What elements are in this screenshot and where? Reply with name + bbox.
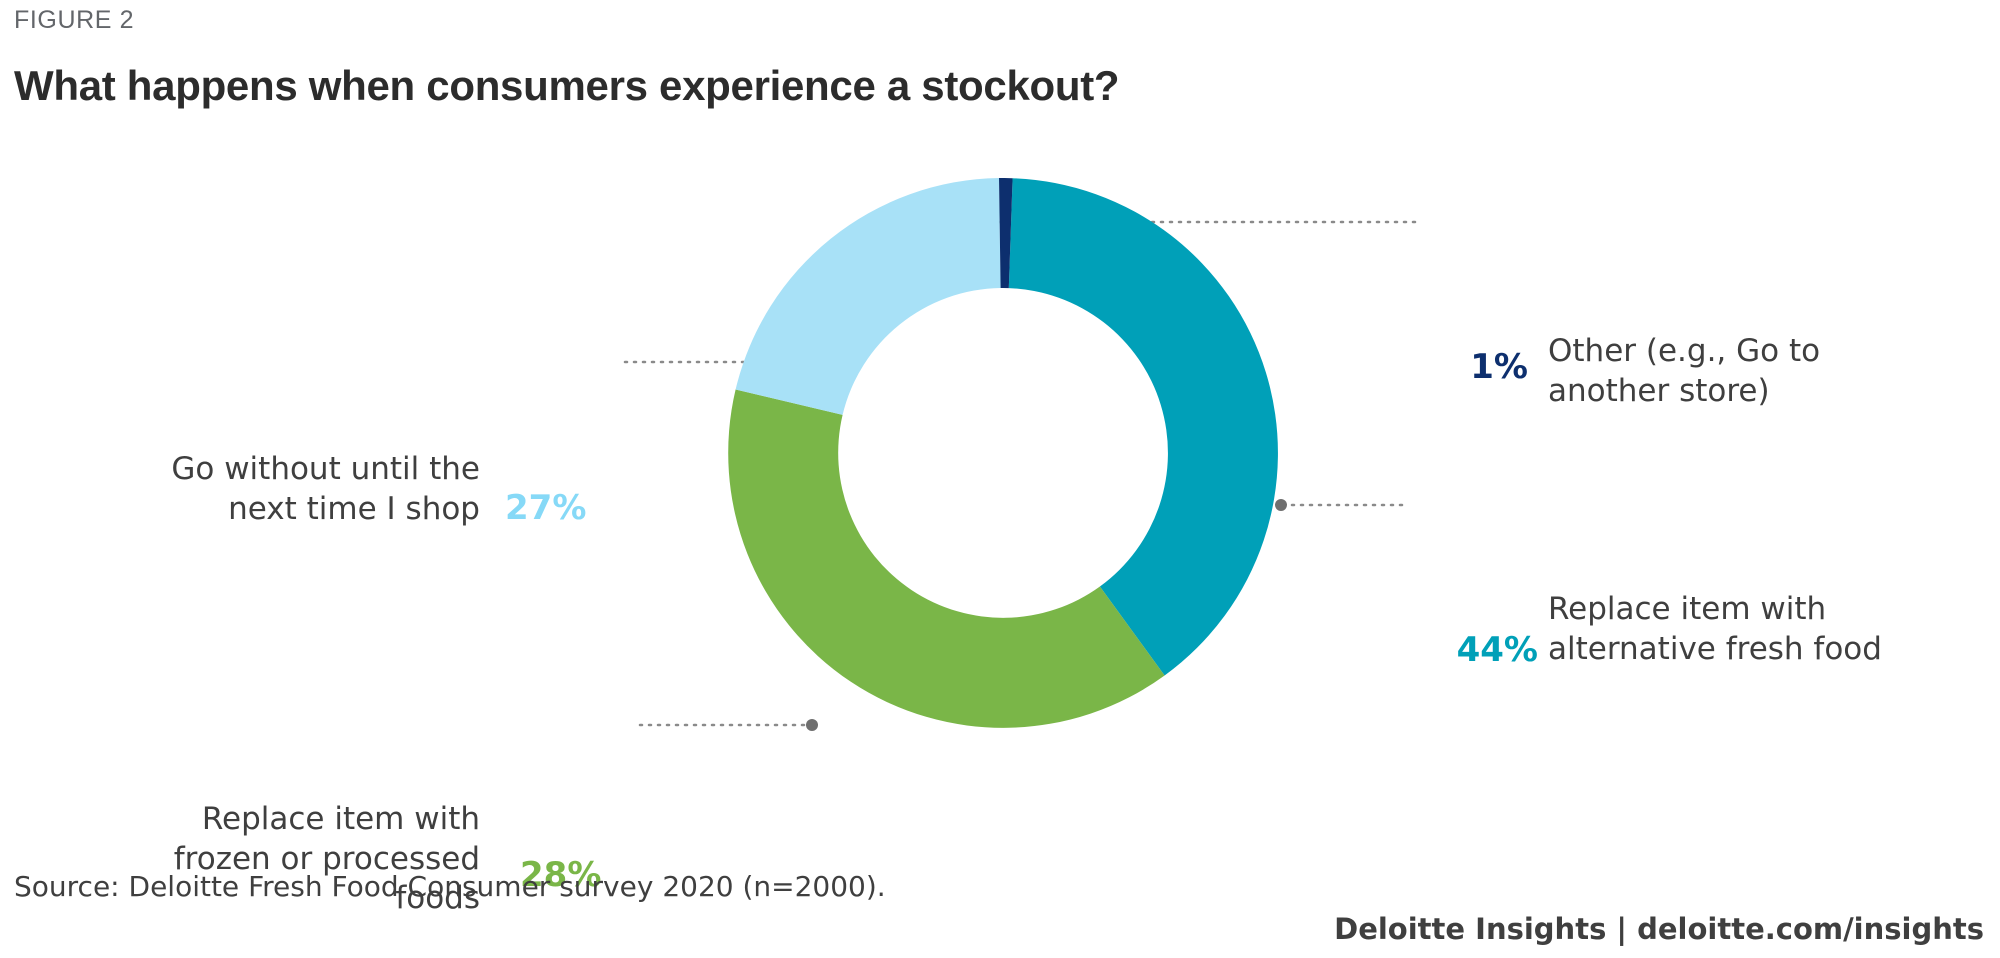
- callout-label-go-without: Go without until the next time I shop: [120, 450, 480, 529]
- page-title: What happens when consumers experience a…: [14, 62, 1119, 110]
- callout-pct-replace-fresh: 44%: [1428, 630, 1538, 670]
- brand-footer: Deloitte Insights | deloitte.com/insight…: [1334, 912, 1984, 946]
- callout-label-other: Other (e.g., Go to another store): [1548, 332, 1908, 411]
- source-note: Source: Deloitte Fresh Food Consumer sur…: [14, 870, 886, 903]
- slice-replace-fresh[interactable]: [1009, 178, 1278, 675]
- donut-chart: [728, 178, 1278, 728]
- callout-pct-other: 1%: [1448, 347, 1528, 387]
- chart-area: 1% Other (e.g., Go to another store) 27%…: [0, 150, 2000, 810]
- figure-page: FIGURE 2 What happens when consumers exp…: [0, 0, 2000, 958]
- slice-go-without[interactable]: [736, 178, 1001, 415]
- figure-label: FIGURE 2: [14, 6, 134, 35]
- callout-label-replace-fresh: Replace item with alternative fresh food: [1548, 590, 1928, 669]
- callout-pct-go-without: 27%: [505, 488, 615, 528]
- slice-replace-frozen[interactable]: [728, 390, 1164, 728]
